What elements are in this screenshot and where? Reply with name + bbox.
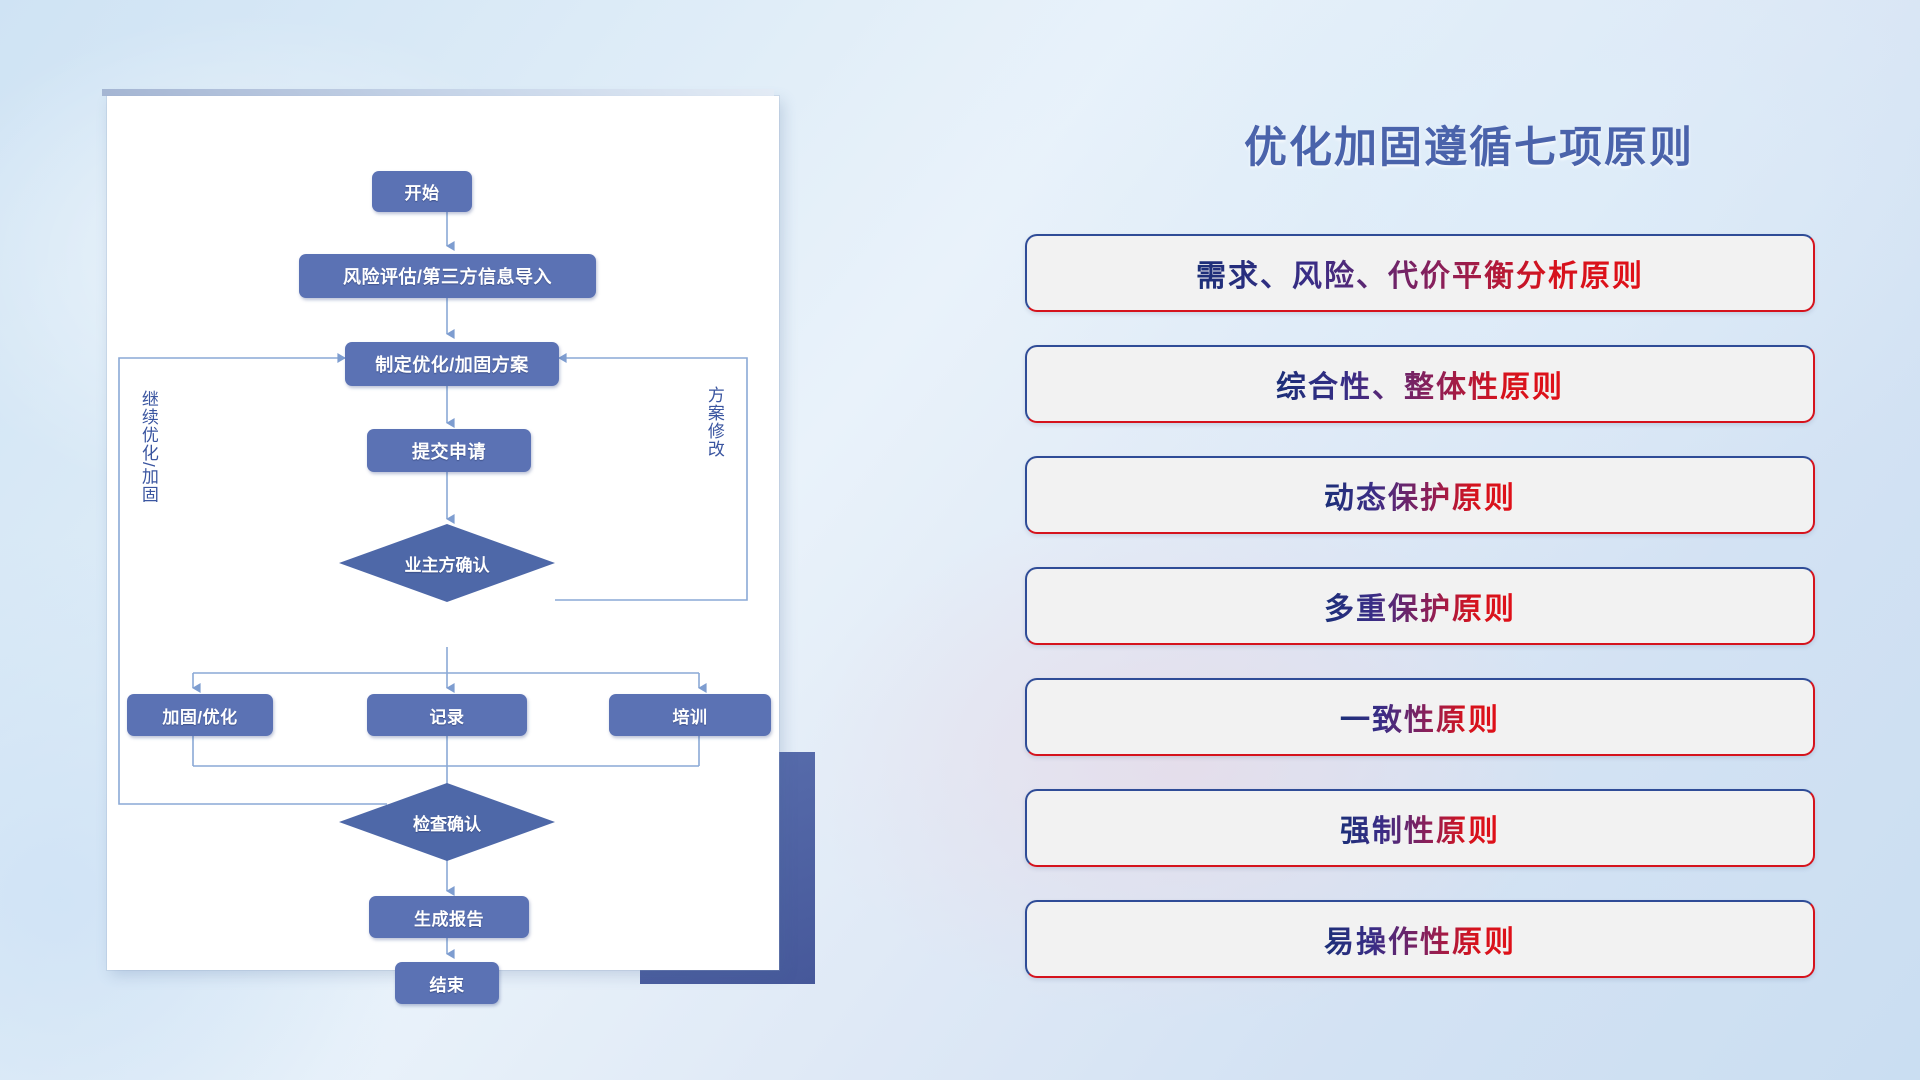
flow-node-risk-assessment[interactable]: 风险评估/第三方信息导入	[299, 254, 596, 298]
flow-node-start[interactable]: 开始	[372, 171, 472, 212]
slide-root: 开始 风险评估/第三方信息导入 制定优化/加固方案 提交申请 业主方确认 加固/…	[0, 0, 1920, 1080]
flow-node-training[interactable]: 培训	[609, 694, 771, 736]
principles-panel: 优化加固遵循七项原则 需求、风险、代价平衡分析原则 综合性、整体性原则 动态保护…	[1020, 0, 1920, 1080]
flowchart-canvas: 开始 风险评估/第三方信息导入 制定优化/加固方案 提交申请 业主方确认 加固/…	[107, 96, 779, 970]
principle-label: 动态保护原则	[1324, 473, 1516, 517]
principle-label: 强制性原则	[1340, 806, 1500, 850]
principles-list: 需求、风险、代价平衡分析原则 综合性、整体性原则 动态保护原则 多重保护原则 一…	[1025, 234, 1815, 1011]
flowchart-card: 开始 风险评估/第三方信息导入 制定优化/加固方案 提交申请 业主方确认 加固/…	[107, 96, 779, 970]
principle-card-2[interactable]: 综合性、整体性原则	[1025, 345, 1815, 423]
principle-card-3[interactable]: 动态保护原则	[1025, 456, 1815, 534]
flow-node-reinforce-optimize[interactable]: 加固/优化	[127, 694, 273, 736]
flow-node-end[interactable]: 结束	[395, 962, 499, 1004]
principle-card-7[interactable]: 易操作性原则	[1025, 900, 1815, 978]
principle-card-1[interactable]: 需求、风险、代价平衡分析原则	[1025, 234, 1815, 312]
flow-node-make-plan[interactable]: 制定优化/加固方案	[345, 342, 559, 386]
panel-title: 优化加固遵循七项原则	[1149, 113, 1789, 175]
flow-node-submit-application[interactable]: 提交申请	[367, 429, 531, 472]
flow-edge-label-right-loop: 方案修改	[705, 386, 723, 458]
principle-label: 多重保护原则	[1324, 584, 1516, 628]
principle-label: 综合性、整体性原则	[1276, 362, 1564, 406]
principle-card-6[interactable]: 强制性原则	[1025, 789, 1815, 867]
flow-node-record[interactable]: 记录	[367, 694, 527, 736]
principle-label: 易操作性原则	[1324, 917, 1516, 961]
principle-label: 需求、风险、代价平衡分析原则	[1196, 251, 1644, 295]
principle-label: 一致性原则	[1340, 695, 1500, 739]
principle-card-4[interactable]: 多重保护原则	[1025, 567, 1815, 645]
principle-card-5[interactable]: 一致性原则	[1025, 678, 1815, 756]
flow-node-generate-report[interactable]: 生成报告	[369, 896, 529, 938]
flow-edge-label-left-loop: 继续优化/加固	[139, 390, 157, 504]
